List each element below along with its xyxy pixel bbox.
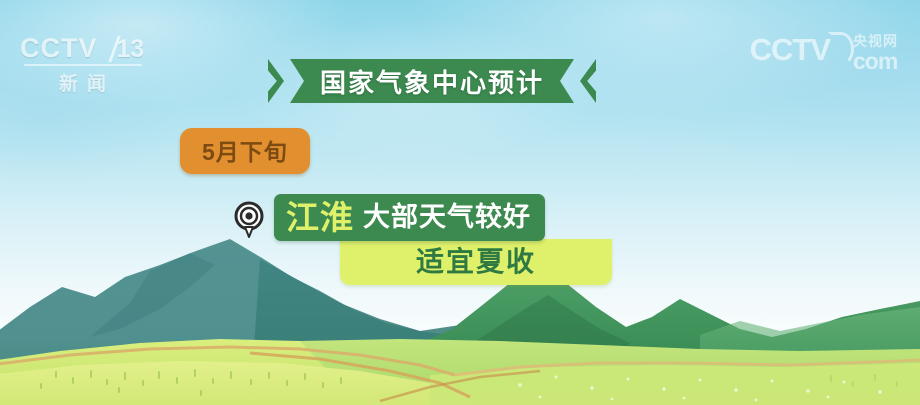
weather-description: 大部天气较好 — [363, 204, 531, 231]
watermark-right-stack: 央视网 com — [853, 34, 898, 73]
forecast-message: 江淮 大部天气较好 适宜夏收 — [232, 194, 632, 285]
forecast-secondary-box: 适宜夏收 — [340, 239, 612, 285]
header-banner: 国家气象中心预计 — [268, 58, 596, 104]
date-period-badge: 5月下旬 — [180, 128, 310, 174]
forecast-primary-row: 江淮 大部天气较好 — [232, 194, 632, 241]
banner-bar: 国家气象中心预计 — [290, 59, 574, 103]
channel-number: 13 — [117, 37, 145, 62]
cctv13-channel-logo: CCTV 13 新闻 — [20, 30, 145, 92]
watermark-site-cn: 央视网 — [853, 34, 898, 49]
cctv-wordmark: CCTV — [20, 35, 98, 62]
watermark-site-suffix: com — [853, 50, 898, 73]
forecast-highlight-box: 江淮 大部天气较好 — [274, 194, 545, 241]
cctv-com-watermark: CCTV 央视网 com — [750, 34, 898, 73]
chevron-right-icon — [268, 59, 284, 103]
logo-top-row: CCTV 13 — [20, 30, 145, 62]
logo-underline — [24, 64, 142, 66]
date-period-label: 5月下旬 — [202, 139, 288, 165]
watermark-arc-icon — [828, 32, 854, 66]
region-label: 江淮 — [286, 201, 354, 234]
channel-name-label: 新闻 — [20, 69, 145, 96]
banner-title: 国家气象中心预计 — [320, 63, 544, 100]
weather-broadcast-graphic: CCTV 13 新闻 CCTV 央视网 com 国家气象中心预计 5月下旬 — [0, 0, 920, 405]
harvest-advice-label: 适宜夏收 — [416, 248, 536, 276]
watermark-brand: CCTV — [750, 34, 830, 65]
location-pin-icon — [232, 200, 266, 238]
chevron-left-icon — [580, 59, 596, 103]
